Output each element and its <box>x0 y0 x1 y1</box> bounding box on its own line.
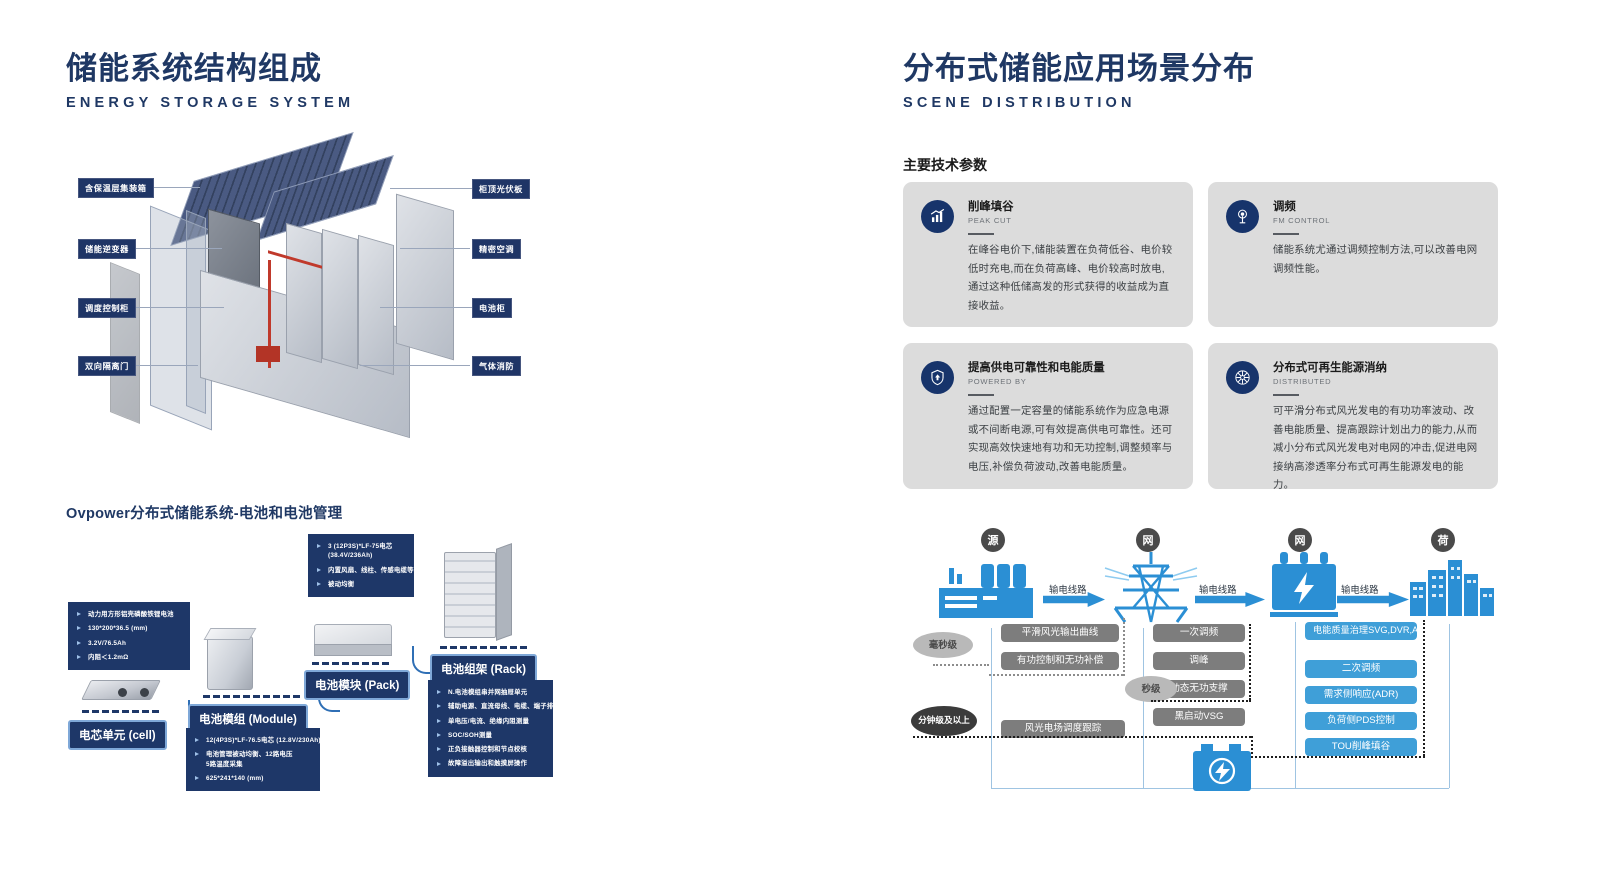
shield-icon <box>921 361 954 394</box>
pill-active-reactive-compensation[interactable]: 有功控制和无功补偿 <box>1001 652 1119 670</box>
right-heading-cn: 分布式储能应用场景分布 <box>903 52 1255 86</box>
card-distributed[interactable]: 分布式可再生能源消纳 DISTRIBUTED 可平滑分布式风光发电的有功功率波动… <box>1208 343 1498 489</box>
cell-spec-item: 内阻＜1.2mΩ <box>77 653 181 662</box>
pill-power-quality[interactable]: 电能质量治理SVG,DVR,APF <box>1305 622 1417 640</box>
rack-spec-item: 故障溢出输出和触摸屏操作 <box>437 759 544 768</box>
cell-spec-item: 3.2V/76.5Ah <box>77 639 181 648</box>
transmission-tower-icon <box>1103 550 1199 631</box>
card-rule <box>968 394 994 396</box>
container-exploded-diagram: 含保温层集装箱 储能逆变器 调度控制柜 双向隔离门 柜顶光伏板 精密空调 电池柜… <box>60 150 540 460</box>
timescale-millisecond: 毫秒级 <box>913 632 973 658</box>
pill-secondary-frequency[interactable]: 二次调频 <box>1305 660 1417 678</box>
card-title: 削峰填谷 <box>968 200 1173 214</box>
label-bidirectional-isolation-door: 双向隔离门 <box>78 356 136 376</box>
cell-dash-row <box>82 710 159 713</box>
isolation-door-art <box>110 262 140 424</box>
substation-icon <box>1266 552 1344 629</box>
thin-connector <box>1295 622 1296 788</box>
card-subtitle: DISTRIBUTED <box>1273 377 1478 386</box>
pill-smooth-output-curve[interactable]: 平滑风光输出曲线 <box>1001 624 1119 642</box>
card-peak-cut[interactable]: 削峰填谷 PEAK CUT 在峰谷电价下,储能装置在负荷低谷、电价较低时充电,而… <box>903 182 1193 327</box>
card-powered-by[interactable]: 提高供电可靠性和电能质量 POWERED BY 通过配置一定容量的储能系统作为应… <box>903 343 1193 489</box>
module-spec-item: 电池管理被动均衡、12路电压 5路温度采集 <box>195 750 311 769</box>
precision-ac-unit-art <box>396 194 454 361</box>
cell-spec-box: 动力用方形铝壳磷酸铁锂电池 130*200*36.5 (mm) 3.2V/76.… <box>68 602 190 670</box>
leader-line <box>390 188 472 189</box>
label-dispatch-control-cabinet: 调度控制柜 <box>78 298 136 318</box>
thin-connector <box>1449 624 1450 788</box>
card-rule <box>968 233 994 235</box>
dotted-region-line <box>933 664 989 666</box>
rack-spec-item: 辅助电源、直流母线、电缆、端子排等 <box>437 702 544 711</box>
card-subtitle: POWERED BY <box>968 377 1173 386</box>
card-text: 通过配置一定容量的储能系统作为应急电源或不间断电源,可有效提高供电可靠性。还可实… <box>968 403 1173 477</box>
timescale-second: 秒级 <box>1125 676 1177 702</box>
left-heading-en: ENERGY STORAGE SYSTEM <box>66 95 354 111</box>
card-text: 储能系统尤通过调频控制方法,可以改善电网调频性能。 <box>1273 242 1478 279</box>
card-text: 在峰谷电价下,储能装置在负荷低谷、电价较低时充电,而在负荷高峰、电价较高时放电,… <box>968 242 1173 316</box>
node-badge-grid-2: 网 <box>1288 528 1312 552</box>
label-energy-inverter: 储能逆变器 <box>78 239 136 259</box>
card-title: 分布式可再生能源消纳 <box>1273 361 1478 375</box>
label-precision-ac: 精密空调 <box>472 239 521 259</box>
flow-arrow-label-1: 输电线路 <box>1049 582 1087 596</box>
leader-line <box>360 365 470 366</box>
thin-connector <box>1143 628 1144 788</box>
rack-spec-item: 正负接触器控制和节点校核 <box>437 745 544 754</box>
left-heading-cn: 储能系统结构组成 <box>66 52 354 86</box>
pill-black-start-vsg[interactable]: 黑启动VSG <box>1153 708 1245 726</box>
pack-dash-row <box>312 662 389 665</box>
label-rooftop-pv-panel: 柜顶光伏板 <box>472 179 530 199</box>
rack-dash-row <box>440 646 527 649</box>
card-subtitle: FM CONTROL <box>1273 216 1478 225</box>
timescale-minute-and-above: 分钟级及以上 <box>911 706 977 736</box>
leader-line <box>400 248 470 249</box>
snowflake-icon <box>1226 361 1259 394</box>
city-buildings-icon <box>1408 554 1496 629</box>
cell-spec-item: 130*200*36.5 (mm) <box>77 624 181 633</box>
module-dash-row <box>203 695 300 698</box>
node-badge-source: 源 <box>981 528 1005 552</box>
node-badge-load: 荷 <box>1431 528 1455 552</box>
pack-spec-item: 内置风扇、线柱、传感电缆等 <box>317 566 405 575</box>
battery-chain-diagram: 动力用方形铝壳磷酸铁锂电池 130*200*36.5 (mm) 3.2V/76.… <box>60 528 580 818</box>
chip-battery-pack: 电池模块 (Pack) <box>304 670 410 700</box>
rack-device-art <box>444 552 496 638</box>
card-text: 可平滑分布式风光发电的有功功率波动、改善电能质量、提高跟踪计划出力的能力,从而减… <box>1273 403 1478 496</box>
module-spec-item: 625*241*140 (mm) <box>195 774 311 783</box>
right-heading-en: SCENE DISTRIBUTION <box>903 95 1255 111</box>
dashed-region-line <box>1249 624 1251 700</box>
thin-connector <box>991 628 992 788</box>
dotted-region-line <box>989 674 1123 676</box>
broadcast-icon <box>1226 200 1259 233</box>
label-battery-cabinet: 电池柜 <box>472 298 512 318</box>
pill-primary-frequency[interactable]: 一次调频 <box>1153 624 1245 642</box>
leader-line <box>132 365 198 366</box>
pack-spec-item: 被动均衡 <box>317 580 405 589</box>
card-subtitle: PEAK CUT <box>968 216 1173 225</box>
flow-arrow-label-2: 输电线路 <box>1199 582 1237 596</box>
leader-line <box>132 248 222 249</box>
right-section-header: 分布式储能应用场景分布 SCENE DISTRIBUTION <box>903 52 1255 111</box>
label-gas-fire-protection: 气体消防 <box>472 356 521 376</box>
pill-load-side-pds[interactable]: 负荷侧PDS控制 <box>1305 712 1417 730</box>
node-badge-grid-1: 网 <box>1136 528 1160 552</box>
module-spec-item: 12(4P3S)*LF-76.5电芯 (12.8V/230Ah) <box>195 736 311 745</box>
battery-cabinet-art-3 <box>358 235 394 375</box>
cell-device-terminals <box>118 688 152 697</box>
card-rule <box>1273 233 1299 235</box>
rack-spec-item: SOC/SOH测量 <box>437 731 544 740</box>
card-fm-control[interactable]: 调频 FM CONTROL 储能系统尤通过调频控制方法,可以改善电网调频性能。 <box>1208 182 1498 327</box>
battery-cabinet-art-2 <box>322 229 358 369</box>
params-title: 主要技术参数 <box>903 155 987 175</box>
card-title: 提高供电可靠性和电能质量 <box>968 361 1173 375</box>
dotted-region-line <box>1123 618 1125 676</box>
pill-tou-peak-shaving[interactable]: TOU削峰填谷 <box>1305 738 1417 756</box>
pack-spec-box: 3 (12P3S)*LF-75电芯 (38.4V/236Ah) 内置风扇、线柱、… <box>308 534 414 597</box>
chain-section-title: Ovpower分布式储能系统-电池和电池管理 <box>66 502 342 523</box>
module-device-top <box>204 628 257 640</box>
battery-cabinet-art-1 <box>286 223 322 363</box>
power-plant-icon <box>935 562 1043 629</box>
module-device-art <box>207 636 253 690</box>
leader-line <box>380 307 472 308</box>
rack-spec-item: 单电压/电流、绝缘内阻测量 <box>437 717 544 726</box>
pill-demand-response-adr[interactable]: 需求侧响应(ADR) <box>1305 686 1417 704</box>
card-title: 调频 <box>1273 200 1478 214</box>
chip-cell-unit: 电芯单元 (cell) <box>68 720 167 750</box>
flow-arrow-label-3: 输电线路 <box>1341 582 1379 596</box>
bar-chart-icon <box>921 200 954 233</box>
leader-line <box>132 307 224 308</box>
fire-suppression-valve-art <box>256 346 280 362</box>
label-insulated-container: 含保温层集装箱 <box>78 178 154 198</box>
module-spec-box: 12(4P3S)*LF-76.5电芯 (12.8V/230Ah) 电池管理被动均… <box>186 728 320 791</box>
card-rule <box>1273 394 1299 396</box>
cell-spec-item: 动力用方形铝壳磷酸铁锂电池 <box>77 610 181 619</box>
dashed-region-line <box>1251 756 1425 758</box>
poster-page: 储能系统结构组成 ENERGY STORAGE SYSTEM 含保温层集装箱 储 <box>0 0 1600 886</box>
rack-spec-box: N.电池模组串并网抽屉单元 辅助电源、直流母线、电缆、端子排等 单电压/电流、绝… <box>428 680 553 777</box>
pill-peak-shaving[interactable]: 调峰 <box>1153 652 1245 670</box>
scene-flow-diagram: 源 网 网 荷 <box>903 520 1523 820</box>
dashed-region-line <box>1151 700 1251 702</box>
pack-device-front <box>314 644 392 656</box>
left-section-header: 储能系统结构组成 ENERGY STORAGE SYSTEM <box>66 52 354 111</box>
battery-storage-icon <box>1191 742 1253 799</box>
rack-device-side <box>496 543 512 641</box>
rack-spec-item: N.电池模组串并网抽屉单元 <box>437 688 544 697</box>
dashed-region-line <box>1423 620 1425 756</box>
dashed-region-line <box>913 736 1251 738</box>
pack-spec-item: 3 (12P3S)*LF-75电芯 (38.4V/236Ah) <box>317 542 405 561</box>
